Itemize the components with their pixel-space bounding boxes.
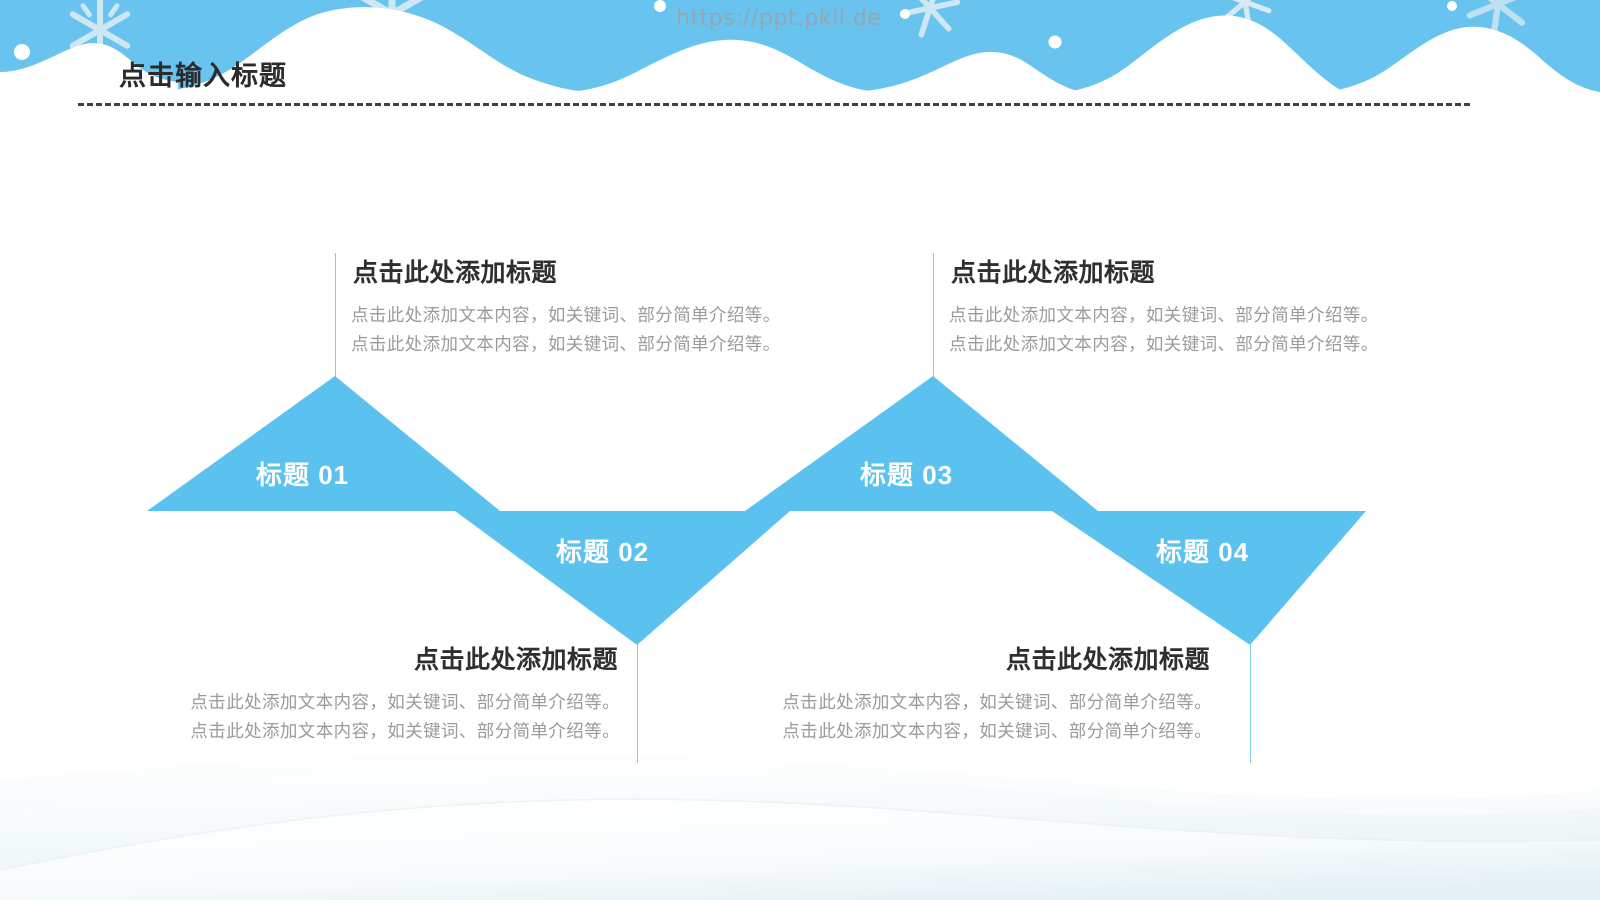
triangle-badge-04[interactable]: 标题 04: [1156, 532, 1249, 569]
text-block-01: 点击此处添加标题 点击此处添加文本内容，如关键词、部分简单介绍等。 点击此处添加…: [351, 253, 781, 359]
connector-line-03: [933, 253, 934, 377]
text-block-01-heading[interactable]: 点击此处添加标题: [353, 253, 781, 289]
text-block-01-line-1[interactable]: 点击此处添加文本内容，如关键词、部分简单介绍等。: [351, 301, 781, 330]
text-block-03-heading[interactable]: 点击此处添加标题: [951, 253, 1379, 289]
footer-snow-hills: [0, 720, 1600, 900]
text-block-03: 点击此处添加标题 点击此处添加文本内容，如关键词、部分简单介绍等。 点击此处添加…: [949, 253, 1379, 359]
triangle-badge-01[interactable]: 标题 01: [256, 455, 349, 492]
text-block-03-line-2[interactable]: 点击此处添加文本内容，如关键词、部分简单介绍等。: [949, 330, 1379, 359]
text-block-04-line-2[interactable]: 点击此处添加文本内容，如关键词、部分简单介绍等。: [734, 717, 1212, 746]
text-block-02: 点击此处添加标题 点击此处添加文本内容，如关键词、部分简单介绍等。 点击此处添加…: [139, 640, 620, 746]
triangle-badge-03[interactable]: 标题 03: [860, 455, 953, 492]
text-block-03-line-1[interactable]: 点击此处添加文本内容，如关键词、部分简单介绍等。: [949, 301, 1379, 330]
slide-canvas: https://ppt.pkll.de 点击输入标题 标题 01 标题 02 标…: [0, 0, 1600, 900]
text-block-02-line-1[interactable]: 点击此处添加文本内容，如关键词、部分简单介绍等。: [139, 688, 620, 717]
triangle-badge-02[interactable]: 标题 02: [556, 532, 649, 569]
text-block-04-line-1[interactable]: 点击此处添加文本内容，如关键词、部分简单介绍等。: [734, 688, 1212, 717]
text-block-02-line-2[interactable]: 点击此处添加文本内容，如关键词、部分简单介绍等。: [139, 717, 620, 746]
text-block-04: 点击此处添加标题 点击此处添加文本内容，如关键词、部分简单介绍等。 点击此处添加…: [734, 640, 1212, 746]
text-block-02-heading[interactable]: 点击此处添加标题: [139, 640, 618, 676]
text-block-01-line-2[interactable]: 点击此处添加文本内容，如关键词、部分简单介绍等。: [351, 330, 781, 359]
watermark-url: https://ppt.pkll.de: [676, 6, 881, 31]
text-block-04-heading[interactable]: 点击此处添加标题: [734, 640, 1210, 676]
connector-line-01: [335, 253, 336, 377]
title-divider: [78, 103, 1470, 106]
connector-line-04: [1250, 645, 1251, 763]
page-title: 点击输入标题: [119, 54, 287, 93]
connector-line-02: [637, 645, 638, 763]
